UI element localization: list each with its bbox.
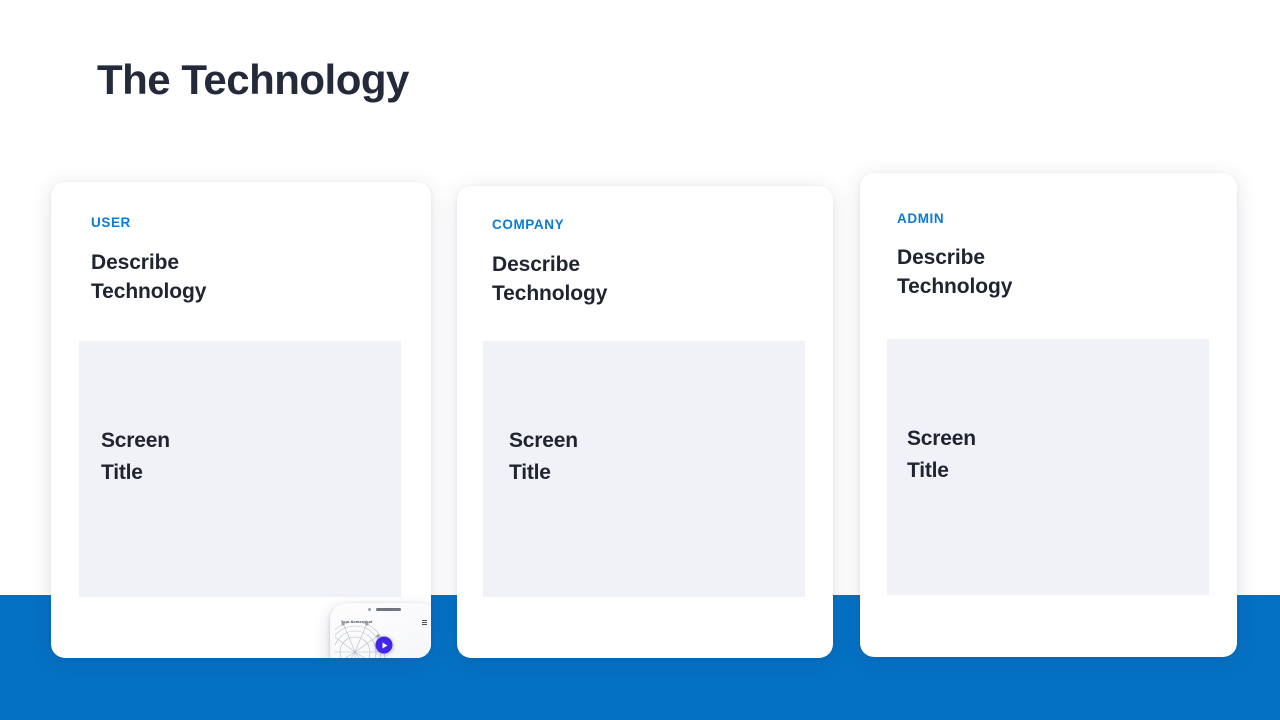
hero-image-ferris-wheel: Your Screenshot: [335, 616, 431, 658]
feature-card-admin[interactable]: ADMIN Describe Technology Screen Title: [860, 173, 1237, 657]
play-button-icon[interactable]: [376, 637, 393, 654]
phone-brand-label: Your Screenshot: [341, 620, 373, 624]
screen-title-line2: Title: [509, 457, 578, 489]
phone-app-topbar: Your Screenshot: [335, 616, 431, 628]
hamburger-menu-icon[interactable]: [422, 620, 427, 625]
card-heading-line2: Technology: [897, 272, 1012, 301]
card-heading: Describe Technology: [897, 243, 1012, 301]
phone-screen: Your Screenshot How We Work Lorem ipsum …: [335, 616, 431, 658]
screen-title: Screen Title: [509, 425, 578, 489]
phone-mockup: Your Screenshot How We Work Lorem ipsum …: [330, 603, 431, 658]
screen-title-line2: Title: [907, 455, 976, 487]
card-heading: Describe Technology: [91, 248, 206, 306]
card-heading-line2: Technology: [91, 277, 206, 306]
screen-title: Screen Title: [907, 423, 976, 487]
screenshot-panel: Screen Title: [483, 341, 805, 597]
slide-canvas: The Technology USER Describe Technology …: [0, 0, 1280, 720]
phone-earpiece-row: [330, 608, 431, 611]
screen-title-line1: Screen: [907, 423, 976, 455]
front-camera-icon: [368, 608, 371, 611]
feature-card-company[interactable]: COMPANY Describe Technology Screen Title: [457, 186, 833, 658]
screen-title: Screen Title: [101, 425, 170, 489]
card-heading: Describe Technology: [492, 250, 607, 308]
screen-title-line1: Screen: [509, 425, 578, 457]
screen-title-line1: Screen: [101, 425, 170, 457]
card-eyebrow: USER: [91, 215, 131, 230]
screen-title-line2: Title: [101, 457, 170, 489]
page-title: The Technology: [97, 56, 409, 104]
card-heading-line2: Technology: [492, 279, 607, 308]
card-eyebrow: COMPANY: [492, 217, 564, 232]
card-heading-line1: Describe: [492, 250, 607, 279]
earpiece-speaker: [376, 608, 401, 611]
card-heading-line1: Describe: [897, 243, 1012, 272]
screenshot-panel: Screen Title: [79, 341, 401, 597]
feature-card-user[interactable]: USER Describe Technology Screen Title: [51, 182, 431, 658]
card-eyebrow: ADMIN: [897, 211, 944, 226]
card-heading-line1: Describe: [91, 248, 206, 277]
screenshot-panel: Screen Title: [887, 339, 1209, 595]
